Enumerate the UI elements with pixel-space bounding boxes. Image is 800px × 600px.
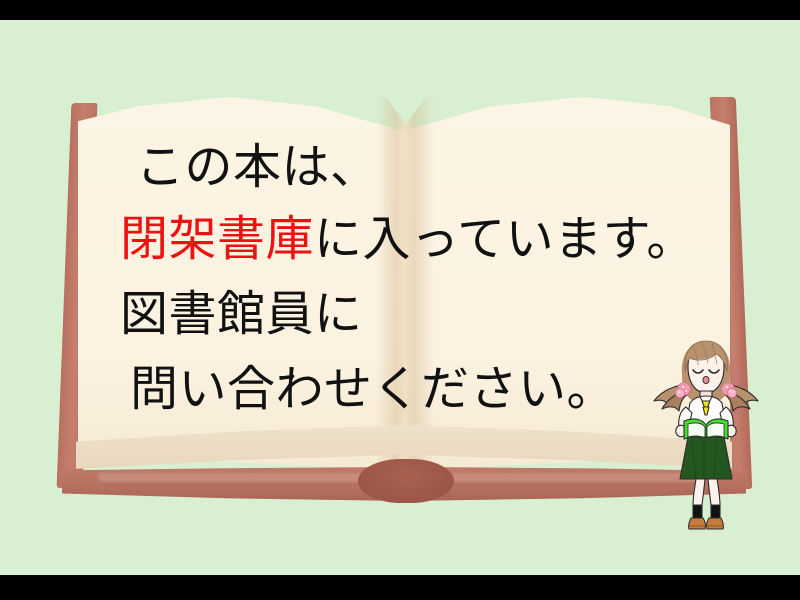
girl-reading-book-illustration (652, 333, 760, 533)
message-line-3: 図書館員に (120, 290, 363, 338)
message-line-1: この本は、 (136, 143, 379, 191)
slide-stage: この本は、 閉架書庫に入っています。 図書館員に 問い合わせください。 (0, 20, 800, 575)
message-text-block: この本は、 閉架書庫に入っています。 図書館員に 問い合わせください。 (58, 75, 748, 515)
open-book: この本は、 閉架書庫に入っています。 図書館員に 問い合わせください。 (58, 75, 748, 515)
letterbox-bottom (0, 575, 800, 600)
slide-canvas: この本は、 閉架書庫に入っています。 図書館員に 問い合わせください。 (0, 0, 800, 600)
message-line-4: 問い合わせください。 (130, 365, 615, 413)
message-line-2-rest: に入っています。 (314, 211, 695, 267)
closed-stacks-keyword: 閉架書庫 (120, 211, 314, 267)
message-line-2: 閉架書庫に入っています。 (120, 215, 695, 263)
letterbox-top (0, 0, 800, 20)
